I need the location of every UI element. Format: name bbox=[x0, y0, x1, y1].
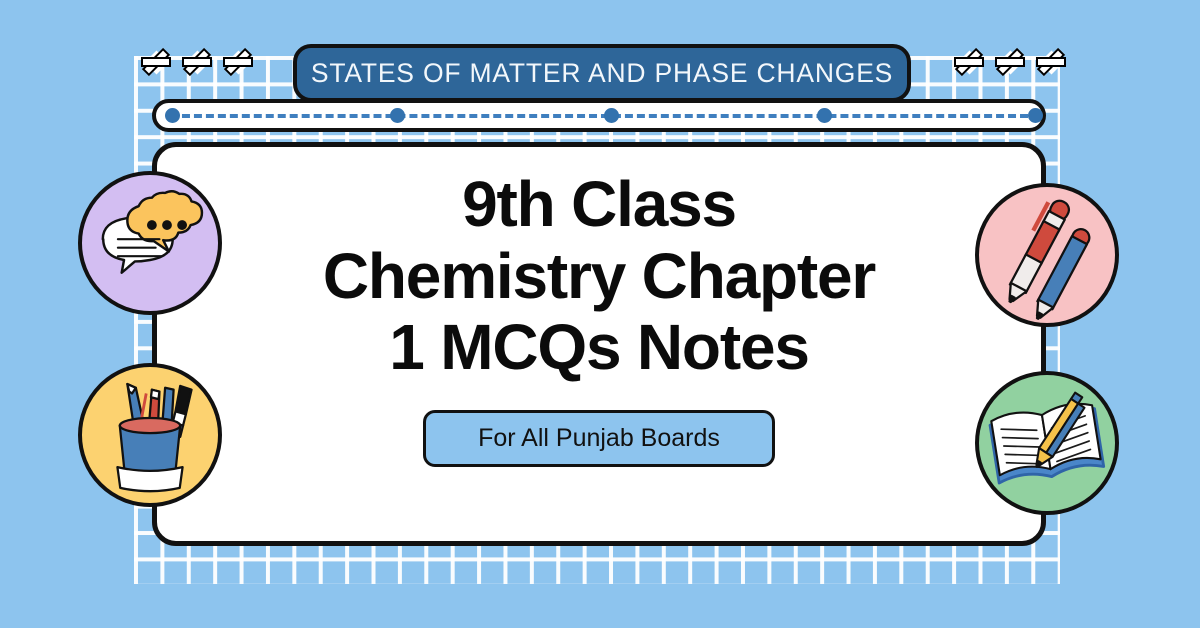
title-line-2: Chemistry Chapter bbox=[323, 241, 875, 313]
speech-bubbles-icon bbox=[78, 171, 222, 315]
pencil-cup-icon bbox=[78, 363, 222, 507]
slider-dot[interactable] bbox=[1028, 108, 1043, 123]
page-title: 9th Class Chemistry Chapter 1 MCQs Notes bbox=[323, 169, 875, 384]
x-mark-icon bbox=[182, 47, 212, 77]
subtitle-text: For All Punjab Boards bbox=[478, 424, 720, 453]
card-content: 9th Class Chemistry Chapter 1 MCQs Notes… bbox=[157, 147, 1041, 541]
slider-dot[interactable] bbox=[165, 108, 180, 123]
x-mark-icon bbox=[141, 47, 171, 77]
subtitle-badge: For All Punjab Boards bbox=[423, 410, 775, 467]
slider-dot[interactable] bbox=[390, 108, 405, 123]
x-mark-icon bbox=[995, 47, 1025, 77]
title-line-1: 9th Class bbox=[323, 169, 875, 241]
poster-canvas: STATES OF MATTER AND PHASE CHANGES 9th C… bbox=[0, 0, 1200, 628]
header-banner: STATES OF MATTER AND PHASE CHANGES bbox=[293, 44, 911, 102]
slider-dot[interactable] bbox=[604, 108, 619, 123]
title-line-3: 1 MCQs Notes bbox=[323, 312, 875, 384]
x-mark-icon bbox=[1036, 47, 1066, 77]
main-card: 9th Class Chemistry Chapter 1 MCQs Notes… bbox=[152, 142, 1046, 546]
banner-title: STATES OF MATTER AND PHASE CHANGES bbox=[311, 58, 893, 89]
slider-dot[interactable] bbox=[817, 108, 832, 123]
slider-track bbox=[170, 114, 1028, 118]
x-mark-icon bbox=[954, 47, 984, 77]
pens-icon bbox=[975, 183, 1119, 327]
progress-slider[interactable] bbox=[152, 99, 1046, 132]
open-book-icon bbox=[975, 371, 1119, 515]
x-mark-icon bbox=[223, 47, 253, 77]
